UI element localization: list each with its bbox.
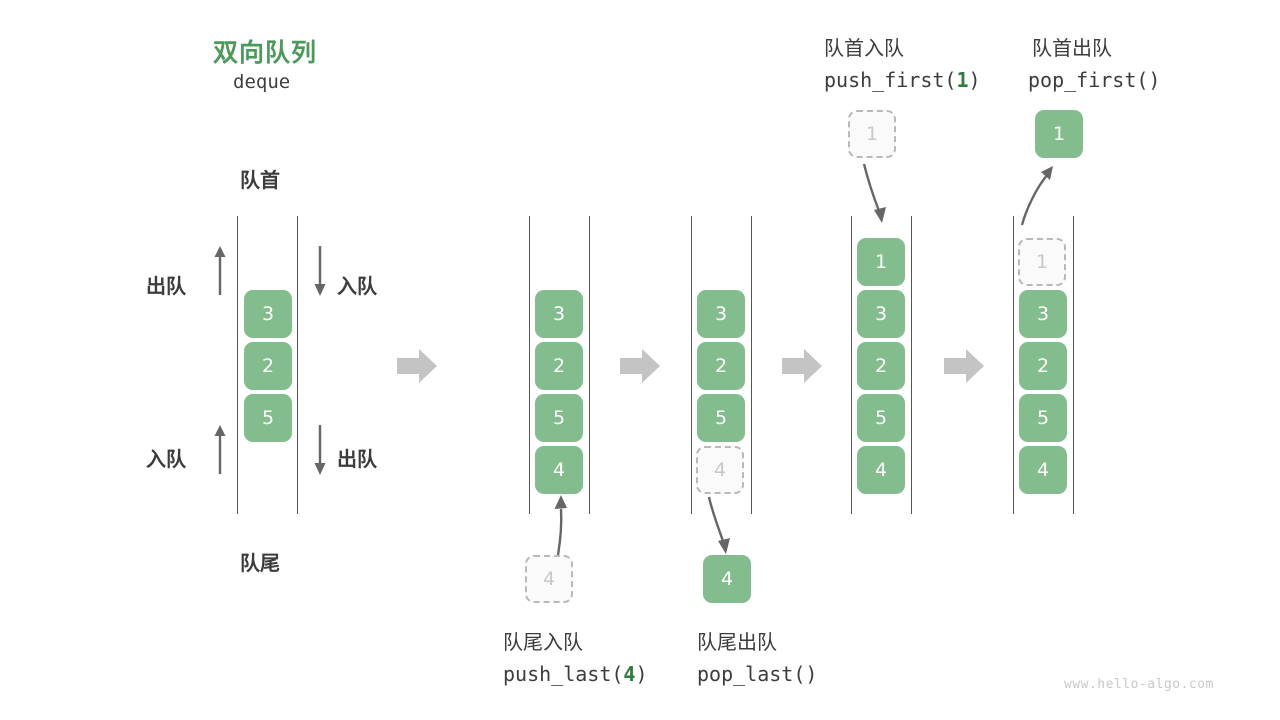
rail-right-col3 <box>751 216 752 514</box>
cell: 5 <box>1019 394 1067 442</box>
pop-last-caption-zh: 队尾出队 <box>697 626 777 655</box>
cell: 2 <box>535 342 583 390</box>
diagram-canvas: 双向队列 deque 队首 出队 入队 入队 出队 3 2 <box>0 0 1280 720</box>
cell: 4 <box>1019 446 1067 494</box>
floating-cell: 4 <box>525 555 573 603</box>
floating-cell: 1 <box>1035 110 1083 158</box>
rail-left-col5 <box>1013 216 1014 514</box>
push-first-caption-zh: 队首入队 <box>824 32 904 61</box>
push-last-code-pre: push_last( <box>503 662 623 686</box>
push-last-code-arg: 4 <box>623 662 635 686</box>
diagram-title-zh: 双向队列 <box>213 33 317 69</box>
pop-first-arrow-icon <box>1016 166 1062 226</box>
rail-right-col2 <box>589 216 590 514</box>
diagram-title-en: deque <box>233 71 290 93</box>
dequeue-bottom-label: 出队 <box>337 443 377 472</box>
dequeue-top-label: 出队 <box>146 270 186 299</box>
rail-right-col4 <box>911 216 912 514</box>
rail-left-col1 <box>237 216 238 514</box>
enqueue-down-arrow-icon <box>310 246 330 296</box>
watermark: www.hello-algo.com <box>1064 677 1214 692</box>
push-first-code-post: ) <box>969 68 981 92</box>
cell: 3 <box>535 290 583 338</box>
cell: 1 <box>857 238 905 286</box>
flow-arrow-icon <box>397 347 437 385</box>
enqueue-up-arrow-icon <box>210 425 230 475</box>
head-label: 队首 <box>240 164 280 193</box>
cell: 1 <box>1018 238 1066 286</box>
cell: 2 <box>1019 342 1067 390</box>
push-first-code-arg: 1 <box>956 68 968 92</box>
cell: 5 <box>535 394 583 442</box>
tail-label: 队尾 <box>240 547 280 576</box>
floating-cell: 1 <box>848 110 896 158</box>
push-last-code-post: ) <box>635 662 647 686</box>
enqueue-bottom-label: 入队 <box>146 443 186 472</box>
pop-last-arrow-icon <box>700 497 740 555</box>
push-last-caption-code: push_last(4) <box>503 662 648 686</box>
flow-arrow-icon <box>782 347 822 385</box>
cell: 3 <box>1019 290 1067 338</box>
floating-cell: 4 <box>703 555 751 603</box>
pop-first-caption-code: pop_first() <box>1028 68 1160 92</box>
cell: 5 <box>244 394 292 442</box>
pop-last-code-post: ) <box>805 662 817 686</box>
cell: 4 <box>696 446 744 494</box>
cell: 2 <box>697 342 745 390</box>
cell: 3 <box>244 290 292 338</box>
cell: 4 <box>857 446 905 494</box>
pop-last-code-pre: pop_last( <box>697 662 805 686</box>
push-first-caption-code: push_first(1) <box>824 68 981 92</box>
rail-right-col5 <box>1073 216 1074 514</box>
push-first-arrow-icon <box>850 164 890 224</box>
push-last-arrow-icon <box>540 495 580 557</box>
push-last-caption-zh: 队尾入队 <box>503 626 583 655</box>
cell: 3 <box>857 290 905 338</box>
rail-left-col2 <box>529 216 530 514</box>
dequeue-down-arrow-icon <box>310 425 330 475</box>
dequeue-up-arrow-icon <box>210 246 230 296</box>
rail-right-col1 <box>297 216 298 514</box>
push-first-code-pre: push_first( <box>824 68 956 92</box>
cell: 2 <box>857 342 905 390</box>
cell: 3 <box>697 290 745 338</box>
rail-left-col4 <box>851 216 852 514</box>
pop-first-code-post: ) <box>1148 68 1160 92</box>
cell: 5 <box>697 394 745 442</box>
enqueue-top-label: 入队 <box>337 270 377 299</box>
flow-arrow-icon <box>944 347 984 385</box>
pop-first-code-pre: pop_first( <box>1028 68 1148 92</box>
pop-last-caption-code: pop_last() <box>697 662 817 686</box>
cell: 5 <box>857 394 905 442</box>
cell: 4 <box>535 446 583 494</box>
rail-left-col3 <box>691 216 692 514</box>
cell: 2 <box>244 342 292 390</box>
pop-first-caption-zh: 队首出队 <box>1032 32 1112 61</box>
flow-arrow-icon <box>620 347 660 385</box>
